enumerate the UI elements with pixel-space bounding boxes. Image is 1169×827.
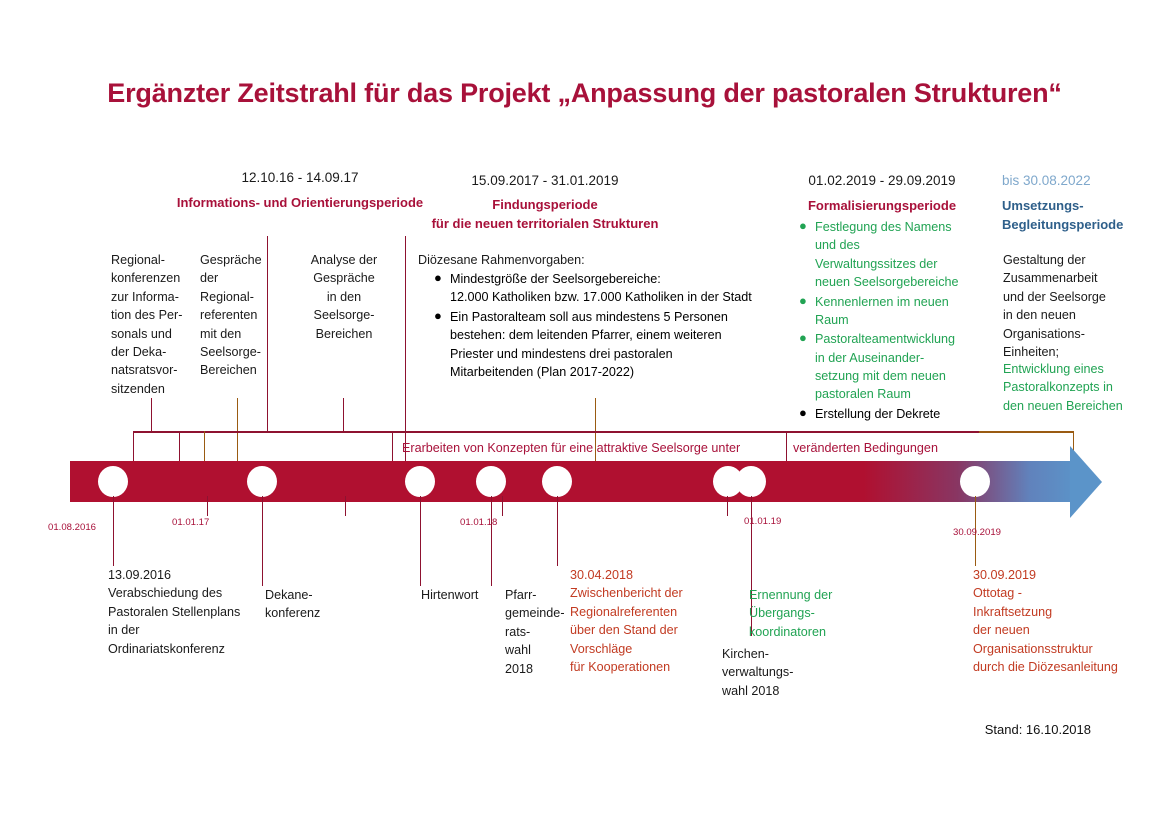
timeline-node[interactable] (960, 466, 990, 497)
timeline-node[interactable] (247, 466, 277, 497)
list-item-text: Kennenlernen im neuen Raum (815, 295, 949, 327)
bullet-dot-icon: ● (434, 269, 442, 288)
event-date: 30.09.2019 (973, 566, 1163, 584)
period-4-name-line2: Begleitungsperiode (1002, 216, 1162, 234)
period-3-date: 01.02.2019 - 29.09.2019 (796, 173, 968, 188)
axis-date-label: 01.01.19 (744, 516, 781, 527)
event-6-text: Ernennung der Übergangs- koordinatoren (749, 586, 869, 641)
column-regionalkonferenzen: Regional- konferenzen zur Informa- tion … (111, 251, 197, 398)
bracket-line-right (979, 431, 1073, 433)
tick-line (207, 496, 208, 516)
banner-text-left: Erarbeiten von Konzepten für eine attrak… (402, 441, 740, 455)
connector-line (405, 236, 406, 462)
connector-line (151, 398, 152, 432)
tick-line (557, 496, 558, 566)
list-item-text: Pastoralteamentwicklung in der Auseinand… (815, 332, 955, 401)
list-item: ● Ein Pastoralteam soll aus mindestens 5… (432, 308, 800, 382)
timeline-node[interactable] (405, 466, 435, 497)
axis-date-label: 30.09.2019 (953, 527, 1001, 538)
connector-line (237, 398, 238, 462)
connector-line (343, 398, 344, 432)
umsetzung-black-text: Gestaltung der Zusammenarbeit und der Se… (1003, 251, 1153, 361)
event-8: 30.09.2019 Ottotag - Inkraftsetzung der … (973, 566, 1163, 676)
list-item-text: Mindestgröße der Seelsorgebereiche: 12.0… (450, 272, 752, 304)
period-3-name: Formalisierungsperiode (796, 197, 968, 215)
list-item-text: Erstellung der Dekrete (815, 407, 940, 421)
list-item: ● Erstellung der Dekrete (797, 405, 993, 423)
period-4-name-line1: Umsetzungs- (1002, 197, 1152, 215)
period-2-name-line2: für die neuen territorialen Strukturen (415, 215, 675, 233)
period-4-date: bis 30.08.2022 (1002, 173, 1152, 188)
bullet-dot-icon: ● (799, 329, 807, 348)
event-2-text: Dekane- konferenz (265, 586, 345, 623)
timeline-bar-gradient (810, 461, 1078, 502)
event-text: Zwischenbericht der Regionalreferenten ü… (570, 584, 715, 676)
tick-line (113, 496, 114, 566)
bullet-dot-icon: ● (799, 217, 807, 236)
stand-footer: Stand: 16.10.2018 (985, 722, 1091, 737)
timeline-node[interactable] (542, 466, 572, 497)
event-text: Verabschiedung des Pastoralen Stellenpla… (108, 584, 268, 658)
connector-line (267, 236, 268, 432)
list-item: ● Festlegung des Namens und des Verwaltu… (797, 218, 993, 292)
timeline-node[interactable] (98, 466, 128, 497)
period-2-date: 15.09.2017 - 31.01.2019 (430, 173, 660, 188)
axis-date-label: 01.01.17 (172, 517, 209, 528)
event-5: 30.04.2018 Zwischenbericht der Regionalr… (570, 566, 715, 676)
umsetzung-green-text: Entwicklung eines Pastoralkonzepts in de… (1003, 360, 1155, 415)
timeline-node[interactable] (476, 466, 506, 497)
bullet-dot-icon: ● (434, 307, 442, 326)
event-1: 13.09.2016 Verabschiedung des Pastoralen… (108, 566, 268, 658)
bracket-tick (204, 431, 205, 462)
findung-intro: Diözesane Rahmenvorgaben: (418, 251, 798, 269)
timeline-node[interactable] (736, 466, 766, 497)
period-1-name: Informations- und Orientierungsperiode (120, 194, 480, 212)
findung-bullet-list: ● Mindestgröße der Seelsorgebereiche: 12… (432, 270, 800, 382)
page-title: Ergänzter Zeitstrahl für das Projekt „An… (0, 78, 1169, 109)
event-text: Ottotag - Inkraftsetzung der neuen Organ… (973, 584, 1163, 676)
period-2-name-line1: Findungsperiode (430, 196, 660, 214)
event-date: 30.04.2018 (570, 566, 715, 584)
tick-line (420, 496, 421, 586)
column-analyse: Analyse der Gespräche in den Seelsorge- … (296, 251, 392, 343)
axis-date-label: 01.01.18 (460, 517, 497, 528)
list-item-text: Ein Pastoralteam soll aus mindestens 5 P… (450, 310, 728, 379)
banner-text-right: veränderten Bedingungen (793, 441, 938, 455)
list-item: ● Mindestgröße der Seelsorgebereiche: 12… (432, 270, 800, 307)
bracket-tick (179, 431, 180, 462)
tick-line (491, 496, 492, 586)
event-4-text: Pfarr- gemeinde- rats- wahl 2018 (505, 586, 563, 678)
list-item: ● Pastoralteamentwicklung in der Auseina… (797, 330, 993, 404)
event-date: 13.09.2016 (108, 566, 268, 584)
bullet-dot-icon: ● (799, 292, 807, 311)
tick-line (345, 496, 346, 516)
list-item-text: Festlegung des Namens und des Verwaltung… (815, 220, 959, 289)
timeline-arrow-head-icon (1070, 446, 1102, 518)
list-item: ● Kennenlernen im neuen Raum (797, 293, 993, 330)
tick-line (727, 496, 728, 516)
formal-bullet-list: ● Festlegung des Namens und des Verwaltu… (797, 218, 993, 424)
event-3-text: Hirtenwort (421, 586, 501, 604)
bullet-dot-icon: ● (799, 404, 807, 423)
event-7-text: Kirchen- verwaltungs- wahl 2018 (722, 645, 822, 700)
tick-line (502, 496, 503, 516)
bracket-tick (786, 431, 787, 462)
bracket-end-left (133, 431, 134, 462)
axis-date-label: 01.08.2016 (48, 522, 96, 533)
bracket-line (133, 431, 979, 433)
bracket-tick (392, 431, 393, 462)
period-1-date: 12.10.16 - 14.09.17 (200, 170, 400, 185)
